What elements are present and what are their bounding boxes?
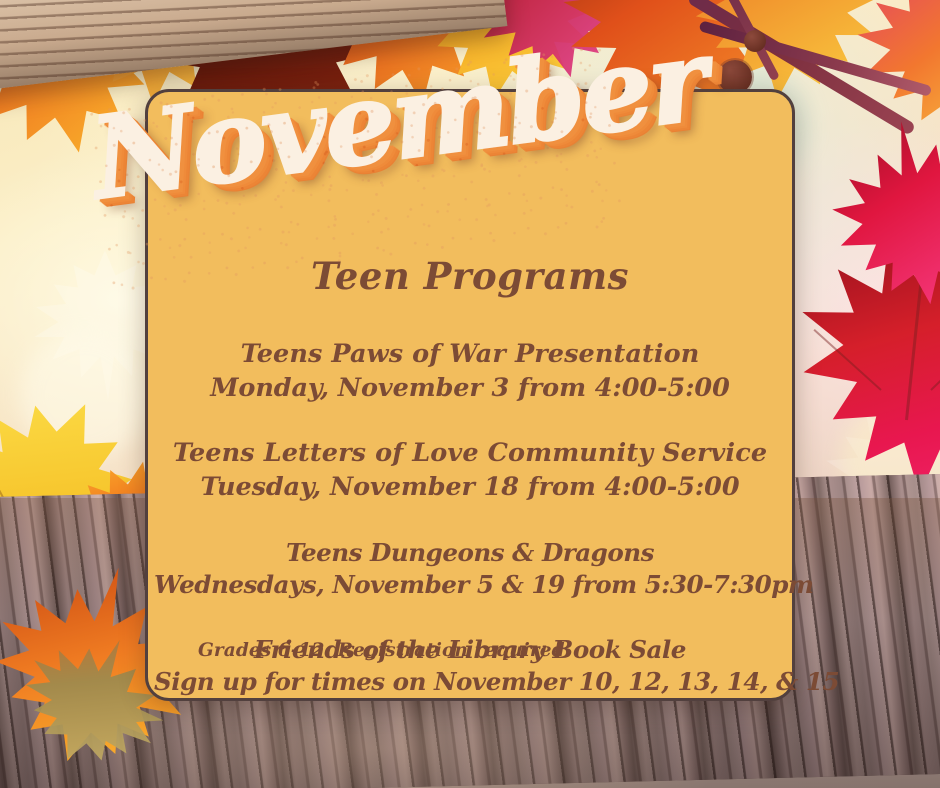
- program-detail: Wednesdays, November 5 & 19 from 5:30-7:…: [154, 569, 786, 601]
- content-card: November Teen Programs Teens Paws of War…: [145, 89, 795, 701]
- card-inner: November Teen Programs Teens Paws of War…: [148, 92, 792, 698]
- program-item: Teens Dungeons & Dragons Wednesdays, Nov…: [154, 537, 786, 602]
- program-detail: Monday, November 3 from 4:00-5:00: [154, 372, 786, 406]
- page-title: Teen Programs: [148, 254, 792, 298]
- program-title: Teens Dungeons & Dragons: [154, 537, 786, 569]
- registration-note: Grades 6-12. Registration required.: [198, 640, 571, 661]
- program-item: Teens Letters of Love Community Service …: [154, 437, 786, 504]
- flyer-canvas: November Teen Programs Teens Paws of War…: [0, 0, 940, 788]
- program-title: Teens Paws of War Presentation: [154, 338, 786, 372]
- program-detail: Sign up for times on November 10, 12, 13…: [154, 666, 786, 698]
- program-item: Teens Paws of War Presentation Monday, N…: [154, 338, 786, 405]
- program-title: Teens Letters of Love Community Service: [154, 437, 786, 471]
- seed-pod-icon: [744, 30, 766, 52]
- program-detail: Tuesday, November 18 from 4:00-5:00: [154, 471, 786, 505]
